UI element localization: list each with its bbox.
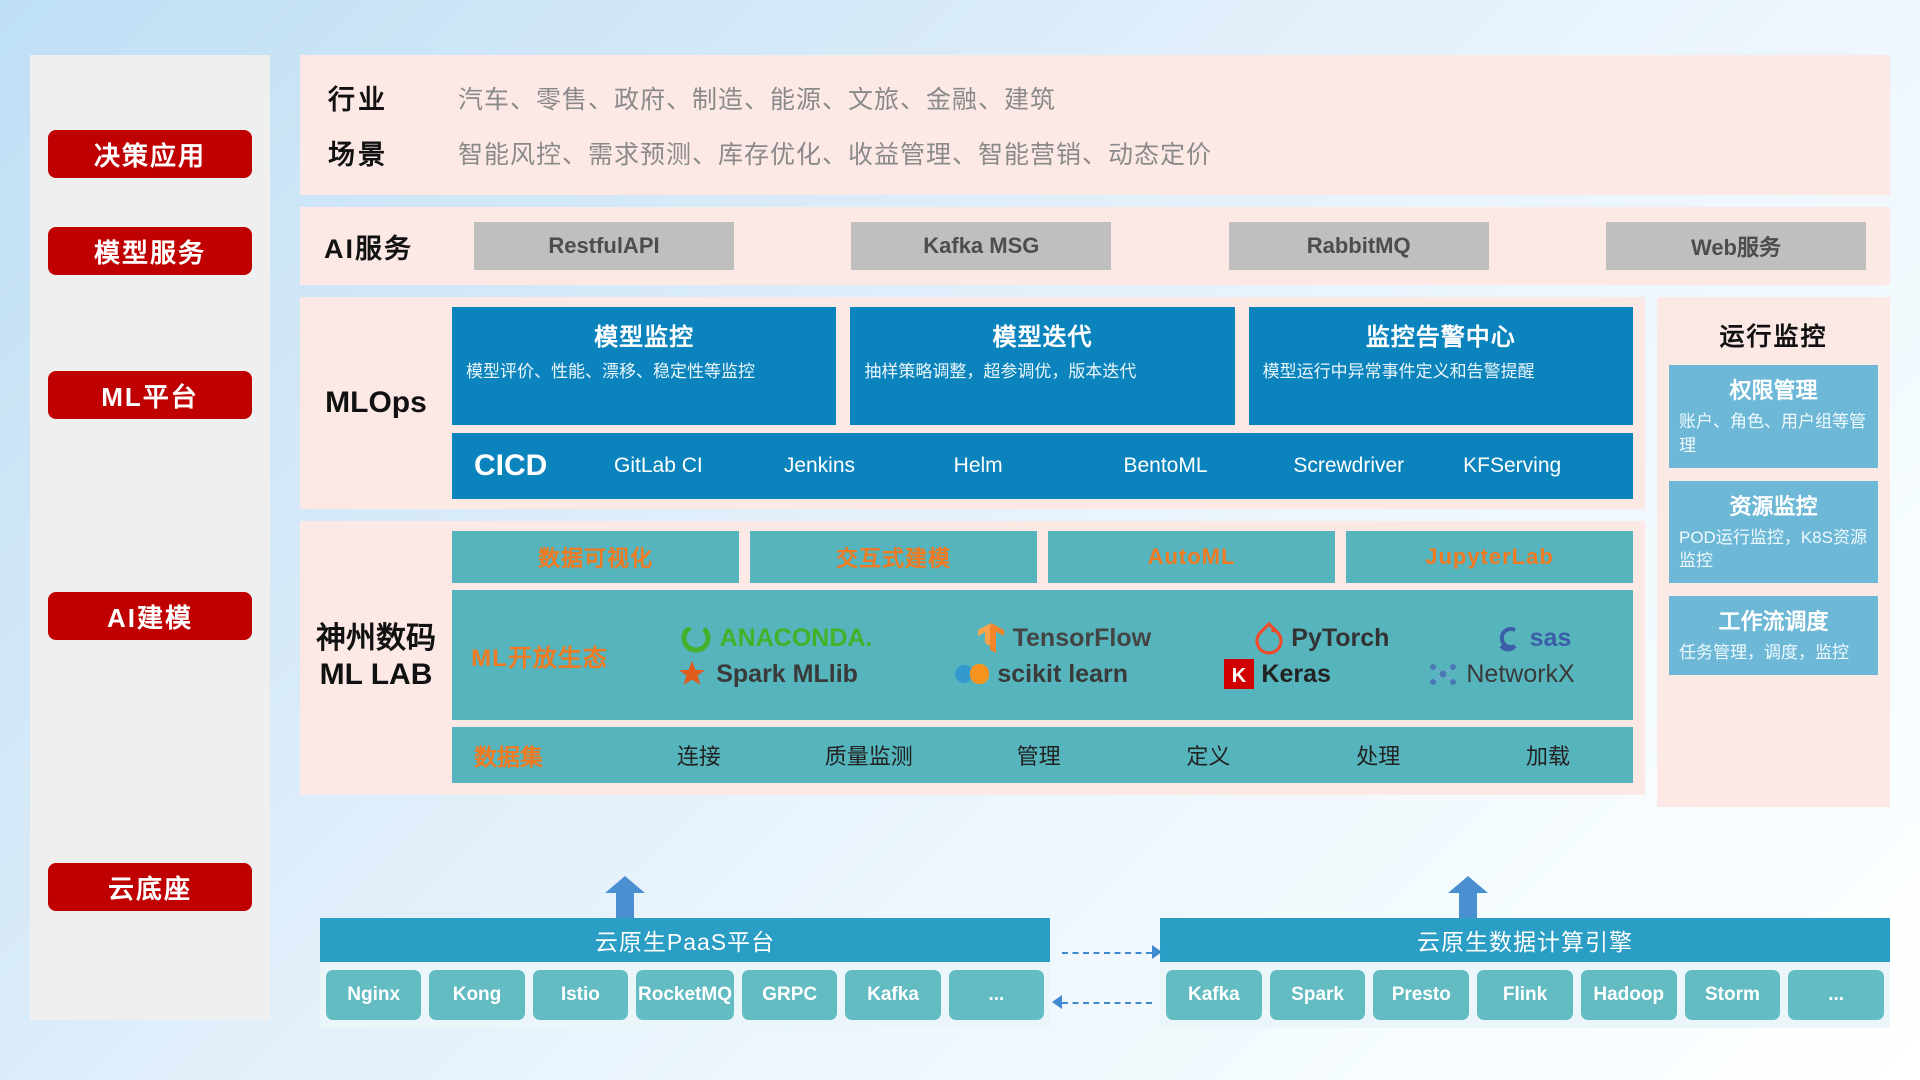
ml-lab-label-line2: ML LAB bbox=[316, 657, 436, 693]
dataset-item-load[interactable]: 加载 bbox=[1463, 739, 1633, 771]
networkx-label: NetworkX bbox=[1466, 660, 1574, 689]
dataset-item-connect[interactable]: 连接 bbox=[614, 739, 784, 771]
mlops-card-title: 模型监控 bbox=[466, 317, 822, 352]
rail-item-ai-modeling[interactable]: AI建模 bbox=[48, 592, 252, 640]
dataset-item-define[interactable]: 定义 bbox=[1123, 739, 1293, 771]
ecosystem-logo-row-1: ANACONDA. TensorFlow bbox=[627, 621, 1623, 655]
sas-logo: sas bbox=[1493, 623, 1572, 653]
connector-arrow-right-icon bbox=[1152, 945, 1162, 959]
cicd-item-helm[interactable]: Helm bbox=[954, 455, 1124, 477]
ml-ecosystem: ML开放生态 ANACONDA. bbox=[452, 590, 1633, 720]
mlops-label: MLOps bbox=[300, 307, 452, 499]
dataset-row: 数据集 连接 质量监测 管理 定义 处理 加载 bbox=[452, 727, 1633, 783]
monitor-card-title: 资源监控 bbox=[1679, 489, 1868, 521]
industry-values: 汽车、零售、政府、制造、能源、文旅、金融、建筑 bbox=[458, 80, 1056, 116]
mid-section: MLOps 模型监控 模型评价、性能、漂移、稳定性等监控 模型迭代 抽样策略调整… bbox=[300, 297, 1890, 807]
band-ml-lab: 神州数码 ML LAB 数据可视化 交互式建模 AutoML JupyterLa… bbox=[300, 521, 1645, 795]
ai-service-restfulapi[interactable]: RestfulAPI bbox=[474, 222, 734, 270]
mlops-card-model-iteration[interactable]: 模型迭代 抽样策略调整，超参调优，版本迭代 bbox=[850, 307, 1234, 425]
monitor-card-desc: 账户、角色、用户组等管理 bbox=[1679, 410, 1868, 458]
tensorflow-logo: TensorFlow bbox=[976, 621, 1151, 655]
row-scenario: 场景 智能风控、需求预测、库存优化、收益管理、智能营销、动态定价 bbox=[328, 133, 1890, 172]
cloud-paas-title: 云原生PaaS平台 bbox=[320, 918, 1050, 962]
ai-service-label: AI服务 bbox=[324, 227, 474, 266]
tab-interactive-modeling[interactable]: 交互式建模 bbox=[750, 531, 1037, 583]
scikit-learn-icon bbox=[954, 659, 990, 689]
rail-item-ml-platform[interactable]: ML平台 bbox=[48, 371, 252, 419]
dataset-item-process[interactable]: 处理 bbox=[1293, 739, 1463, 771]
band-mlops: MLOps 模型监控 模型评价、性能、漂移、稳定性等监控 模型迭代 抽样策略调整… bbox=[300, 297, 1645, 509]
chip-istio[interactable]: Istio bbox=[533, 970, 628, 1020]
connector-dashed-bottom bbox=[1062, 1002, 1152, 1004]
cicd-item-gitlab-ci[interactable]: GitLab CI bbox=[614, 455, 784, 477]
chip-presto[interactable]: Presto bbox=[1373, 970, 1469, 1020]
chip-rocketmq[interactable]: RocketMQ bbox=[636, 970, 734, 1020]
sas-label: sas bbox=[1530, 624, 1572, 653]
cicd-item-bentoml[interactable]: BentoML bbox=[1123, 455, 1293, 477]
connector-dashed-top bbox=[1062, 952, 1152, 954]
ml-lab-label-line1: 神州数码 bbox=[316, 621, 436, 657]
runtime-monitor-panel: 运行监控 权限管理 账户、角色、用户组等管理 资源监控 POD运行监控，K8S资… bbox=[1657, 297, 1890, 807]
sas-icon bbox=[1493, 623, 1523, 653]
ml-lab-label: 神州数码 ML LAB bbox=[300, 531, 452, 783]
pytorch-logo: PyTorch bbox=[1254, 621, 1389, 655]
anaconda-label: ANACONDA. bbox=[720, 624, 873, 653]
mlops-card-title: 监控告警中心 bbox=[1263, 317, 1619, 352]
chip-spark[interactable]: Spark bbox=[1270, 970, 1366, 1020]
tab-data-visualization[interactable]: 数据可视化 bbox=[452, 531, 739, 583]
ml-lab-tabs: 数据可视化 交互式建模 AutoML JupyterLab bbox=[452, 531, 1633, 583]
ai-service-web[interactable]: Web服务 bbox=[1606, 222, 1866, 270]
arrow-up-paas-icon bbox=[605, 876, 645, 918]
mlops-card-desc: 模型评价、性能、漂移、稳定性等监控 bbox=[466, 360, 822, 385]
scikit-learn-label: scikit learn bbox=[997, 660, 1128, 689]
cicd-title: CICD bbox=[474, 449, 614, 483]
dataset-title: 数据集 bbox=[474, 738, 614, 772]
cicd-item-screwdriver[interactable]: Screwdriver bbox=[1293, 455, 1463, 477]
rail-item-decision-app[interactable]: 决策应用 bbox=[48, 130, 252, 178]
scenario-label: 场景 bbox=[328, 133, 458, 172]
cicd-item-kfserving[interactable]: KFServing bbox=[1463, 455, 1633, 477]
chip-more[interactable]: ... bbox=[949, 970, 1044, 1020]
chip-kong[interactable]: Kong bbox=[429, 970, 524, 1020]
svg-text:K: K bbox=[1232, 665, 1247, 687]
band-ai-service: AI服务 RestfulAPI Kafka MSG RabbitMQ Web服务 bbox=[300, 207, 1890, 285]
main-stack: 行业 汽车、零售、政府、制造、能源、文旅、金融、建筑 场景 智能风控、需求预测、… bbox=[300, 55, 1890, 807]
pytorch-label: PyTorch bbox=[1291, 624, 1389, 653]
monitor-card-title: 工作流调度 bbox=[1679, 604, 1868, 636]
diagram-canvas: 决策应用 模型服务 ML平台 AI建模 云底座 行业 汽车、零售、政府、制造、能… bbox=[0, 0, 1920, 1080]
chip-grpc[interactable]: GRPC bbox=[742, 970, 837, 1020]
monitor-card-permissions[interactable]: 权限管理 账户、角色、用户组等管理 bbox=[1669, 365, 1878, 468]
cicd-row: CICD GitLab CI Jenkins Helm BentoML Scre… bbox=[452, 433, 1633, 499]
anaconda-icon bbox=[679, 621, 713, 655]
chip-kafka-engine[interactable]: Kafka bbox=[1166, 970, 1262, 1020]
chip-flink[interactable]: Flink bbox=[1477, 970, 1573, 1020]
mlops-card-title: 模型迭代 bbox=[864, 317, 1220, 352]
mlops-card-desc: 抽样策略调整，超参调优，版本迭代 bbox=[864, 360, 1220, 385]
scikit-learn-logo: scikit learn bbox=[954, 659, 1128, 689]
chip-storm[interactable]: Storm bbox=[1685, 970, 1781, 1020]
anaconda-logo: ANACONDA. bbox=[679, 621, 873, 655]
tab-automl[interactable]: AutoML bbox=[1048, 531, 1335, 583]
cicd-item-jenkins[interactable]: Jenkins bbox=[784, 455, 954, 477]
dataset-item-manage[interactable]: 管理 bbox=[954, 739, 1124, 771]
cloud-paas-group: 云原生PaaS平台 Nginx Kong Istio RocketMQ GRPC… bbox=[320, 918, 1050, 1028]
keras-icon: K bbox=[1224, 659, 1254, 689]
industry-label: 行业 bbox=[328, 78, 458, 117]
spark-mllib-logo: Spark MLlib bbox=[675, 659, 858, 689]
rail-item-cloud-base[interactable]: 云底座 bbox=[48, 863, 252, 911]
spark-icon bbox=[675, 659, 709, 689]
cloud-data-engine-group: 云原生数据计算引擎 Kafka Spark Presto Flink Hadoo… bbox=[1160, 918, 1890, 1028]
monitor-card-desc: POD运行监控，K8S资源监控 bbox=[1679, 526, 1868, 574]
monitor-card-title: 权限管理 bbox=[1679, 373, 1868, 405]
monitor-card-desc: 任务管理，调度，监控 bbox=[1679, 641, 1868, 665]
chip-kafka[interactable]: Kafka bbox=[845, 970, 940, 1020]
networkx-logo: NetworkX bbox=[1427, 659, 1574, 689]
keras-logo: K Keras bbox=[1224, 659, 1331, 689]
connector-arrow-left-icon bbox=[1052, 995, 1062, 1009]
chip-nginx[interactable]: Nginx bbox=[326, 970, 421, 1020]
tensorflow-label: TensorFlow bbox=[1013, 624, 1151, 653]
ecosystem-logo-row-2: Spark MLlib scikit learn bbox=[627, 659, 1623, 689]
tensorflow-icon bbox=[976, 621, 1006, 655]
mlops-card-desc: 模型运行中异常事件定义和告警提醒 bbox=[1263, 360, 1619, 385]
ai-service-kafka-msg[interactable]: Kafka MSG bbox=[851, 222, 1111, 270]
chip-hadoop[interactable]: Hadoop bbox=[1581, 970, 1677, 1020]
cloud-foundation: 云原生PaaS平台 Nginx Kong Istio RocketMQ GRPC… bbox=[300, 890, 1890, 1040]
row-industry: 行业 汽车、零售、政府、制造、能源、文旅、金融、建筑 bbox=[328, 78, 1890, 117]
mlops-card-alert-center[interactable]: 监控告警中心 模型运行中异常事件定义和告警提醒 bbox=[1249, 307, 1633, 425]
cloud-data-engine-title: 云原生数据计算引擎 bbox=[1160, 918, 1890, 962]
spark-mllib-label: Spark MLlib bbox=[716, 660, 858, 689]
chip-more-engine[interactable]: ... bbox=[1788, 970, 1884, 1020]
dataset-item-quality[interactable]: 质量监测 bbox=[784, 739, 954, 771]
monitor-card-resources[interactable]: 资源监控 POD运行监控，K8S资源监控 bbox=[1669, 481, 1878, 584]
keras-label: Keras bbox=[1261, 660, 1331, 689]
pytorch-icon bbox=[1254, 621, 1284, 655]
ml-ecosystem-label: ML开放生态 bbox=[452, 590, 627, 720]
arrow-up-data-engine-icon bbox=[1448, 876, 1488, 918]
band-industry-scenario: 行业 汽车、零售、政府、制造、能源、文旅、金融、建筑 场景 智能风控、需求预测、… bbox=[300, 55, 1890, 195]
monitor-card-workflow[interactable]: 工作流调度 任务管理，调度，监控 bbox=[1669, 596, 1878, 675]
scenario-values: 智能风控、需求预测、库存优化、收益管理、智能营销、动态定价 bbox=[458, 135, 1212, 171]
mlops-card-model-monitor[interactable]: 模型监控 模型评价、性能、漂移、稳定性等监控 bbox=[452, 307, 836, 425]
networkx-icon bbox=[1427, 659, 1459, 689]
ai-service-rabbitmq[interactable]: RabbitMQ bbox=[1229, 222, 1489, 270]
runtime-monitor-title: 运行监控 bbox=[1665, 307, 1882, 365]
tab-jupyterlab[interactable]: JupyterLab bbox=[1346, 531, 1633, 583]
layer-rail: 决策应用 模型服务 ML平台 AI建模 云底座 bbox=[30, 55, 270, 1020]
rail-item-model-service[interactable]: 模型服务 bbox=[48, 227, 252, 275]
